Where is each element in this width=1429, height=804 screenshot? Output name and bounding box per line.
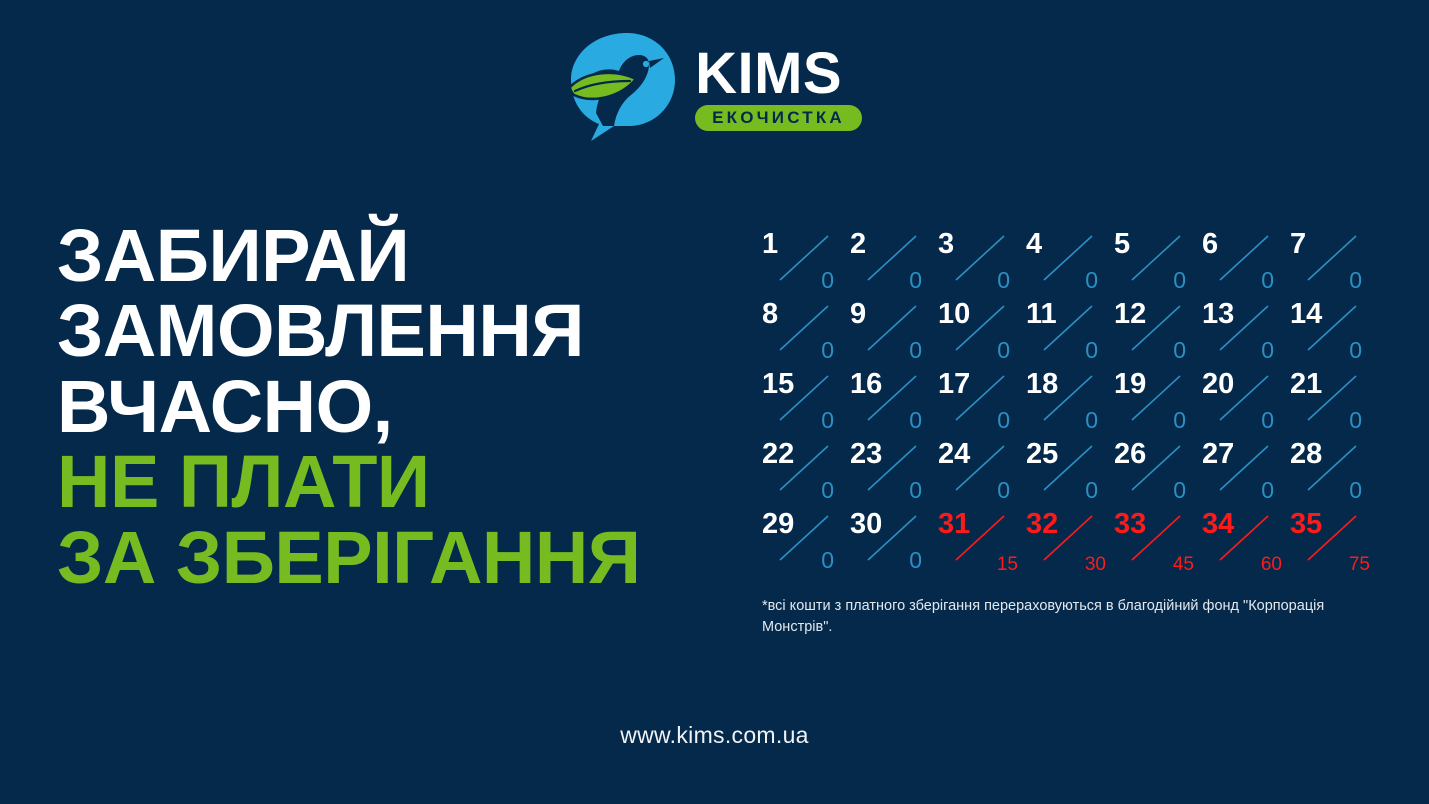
- calendar-day-cell: 210: [1288, 368, 1376, 438]
- calendar-day-cell: 120: [1112, 298, 1200, 368]
- headline-line-4: НЕ ПЛАТИ: [57, 444, 757, 519]
- calendar-day-fee: 0: [909, 549, 922, 572]
- headline-block: ЗАБИРАЙЗАМОВЛЕННЯВЧАСНО,НЕ ПЛАТИЗА ЗБЕРІ…: [57, 218, 757, 595]
- calendar-day-fee: 0: [909, 269, 922, 292]
- site-url[interactable]: www.kims.com.ua: [0, 722, 1429, 749]
- calendar-day-fee: 0: [1173, 339, 1186, 362]
- calendar-day-cell: 240: [936, 438, 1024, 508]
- calendar-day-fee: 0: [1085, 269, 1098, 292]
- calendar-day-cell: 30: [936, 228, 1024, 298]
- calendar-day-cell: 3115: [936, 508, 1024, 578]
- calendar-day-cell: 50: [1112, 228, 1200, 298]
- calendar-day-fee: 0: [997, 339, 1010, 362]
- calendar-day-number: 3: [938, 230, 954, 259]
- calendar-day-cell: 10: [760, 228, 848, 298]
- calendar-day-fee: 0: [1173, 479, 1186, 502]
- calendar-day-cell: 3345: [1112, 508, 1200, 578]
- storage-fee-calendar: 1020304050607080901001101201301401501601…: [760, 228, 1376, 578]
- calendar-day-cell: 40: [1024, 228, 1112, 298]
- calendar-day-cell: 130: [1200, 298, 1288, 368]
- calendar-day-fee: 0: [821, 549, 834, 572]
- calendar-day-fee: 0: [1349, 479, 1362, 502]
- calendar-day-cell: 20: [848, 228, 936, 298]
- calendar-day-fee: 0: [821, 269, 834, 292]
- calendar-day-cell: 190: [1112, 368, 1200, 438]
- calendar-day-cell: 3575: [1288, 508, 1376, 578]
- calendar-day-fee: 0: [1349, 409, 1362, 432]
- calendar-day-cell: 110: [1024, 298, 1112, 368]
- calendar-day-number: 4: [1026, 230, 1042, 259]
- calendar-day-fee: 0: [1085, 479, 1098, 502]
- calendar-day-cell: 220: [760, 438, 848, 508]
- calendar-day-number: 5: [1114, 230, 1130, 259]
- calendar-day-cell: 260: [1112, 438, 1200, 508]
- headline-line-1: ЗАБИРАЙ: [57, 218, 757, 293]
- logo-badge: ЕКОЧИСТКА: [695, 105, 862, 131]
- calendar-day-cell: 160: [848, 368, 936, 438]
- calendar-day-cell: 70: [1288, 228, 1376, 298]
- calendar-day-fee: 0: [1173, 409, 1186, 432]
- calendar-day-fee: 60: [1261, 555, 1282, 574]
- headline-line-3: ВЧАСНО,: [57, 369, 757, 444]
- calendar-day-cell: 200: [1200, 368, 1288, 438]
- calendar-day-fee: 30: [1085, 555, 1106, 574]
- footnote: *всі кошти з платного зберігання перерах…: [762, 596, 1382, 638]
- calendar-day-fee: 0: [909, 409, 922, 432]
- calendar-day-fee: 0: [1085, 339, 1098, 362]
- calendar-day-number: 9: [850, 300, 866, 329]
- calendar-day-fee: 0: [909, 339, 922, 362]
- poster-root: { "theme": { "background": "#05294B", "w…: [0, 0, 1429, 804]
- calendar-day-cell: 3230: [1024, 508, 1112, 578]
- calendar-day-cell: 90: [848, 298, 936, 368]
- calendar-day-cell: 300: [848, 508, 936, 578]
- calendar-day-cell: 230: [848, 438, 936, 508]
- calendar-day-cell: 60: [1200, 228, 1288, 298]
- calendar-day-fee: 0: [821, 339, 834, 362]
- calendar-day-cell: 270: [1200, 438, 1288, 508]
- bird-leaf-speech-bubble-icon: [567, 31, 685, 143]
- calendar-day-fee: 0: [997, 409, 1010, 432]
- calendar-day-cell: 150: [760, 368, 848, 438]
- brand-logo[interactable]: KIMS ЕКОЧИСТКА: [0, 32, 1429, 142]
- calendar-day-number: 6: [1202, 230, 1218, 259]
- calendar-day-number: 2: [850, 230, 866, 259]
- calendar-day-fee: 0: [1261, 409, 1274, 432]
- headline-line-5: ЗА ЗБЕРІГАННЯ: [57, 520, 757, 595]
- calendar-day-fee: 0: [1085, 409, 1098, 432]
- calendar-day-cell: 280: [1288, 438, 1376, 508]
- calendar-day-cell: 250: [1024, 438, 1112, 508]
- calendar-day-fee: 0: [1261, 269, 1274, 292]
- calendar-day-cell: 290: [760, 508, 848, 578]
- calendar-day-fee: 0: [909, 479, 922, 502]
- calendar-day-cell: 140: [1288, 298, 1376, 368]
- calendar-day-number: 8: [762, 300, 778, 329]
- calendar-day-fee: 0: [1173, 269, 1186, 292]
- calendar-day-fee: 0: [1349, 269, 1362, 292]
- calendar-day-cell: 3460: [1200, 508, 1288, 578]
- calendar-day-fee: 0: [821, 409, 834, 432]
- calendar-day-number: 1: [762, 230, 778, 259]
- calendar-day-number: 7: [1290, 230, 1306, 259]
- logo-wordmark: KIMS ЕКОЧИСТКА: [695, 43, 862, 131]
- calendar-day-fee: 45: [1173, 555, 1194, 574]
- calendar-day-cell: 80: [760, 298, 848, 368]
- calendar-day-cell: 100: [936, 298, 1024, 368]
- calendar-day-fee: 15: [997, 555, 1018, 574]
- calendar-day-fee: 0: [821, 479, 834, 502]
- calendar-day-fee: 0: [1261, 339, 1274, 362]
- calendar-day-fee: 75: [1349, 555, 1370, 574]
- headline-line-2: ЗАМОВЛЕННЯ: [57, 293, 757, 368]
- calendar-day-fee: 0: [1349, 339, 1362, 362]
- calendar-day-fee: 0: [1261, 479, 1274, 502]
- calendar-day-cell: 170: [936, 368, 1024, 438]
- calendar-day-fee: 0: [997, 269, 1010, 292]
- calendar-day-cell: 180: [1024, 368, 1112, 438]
- logo-title: KIMS: [695, 47, 842, 100]
- calendar-day-fee: 0: [997, 479, 1010, 502]
